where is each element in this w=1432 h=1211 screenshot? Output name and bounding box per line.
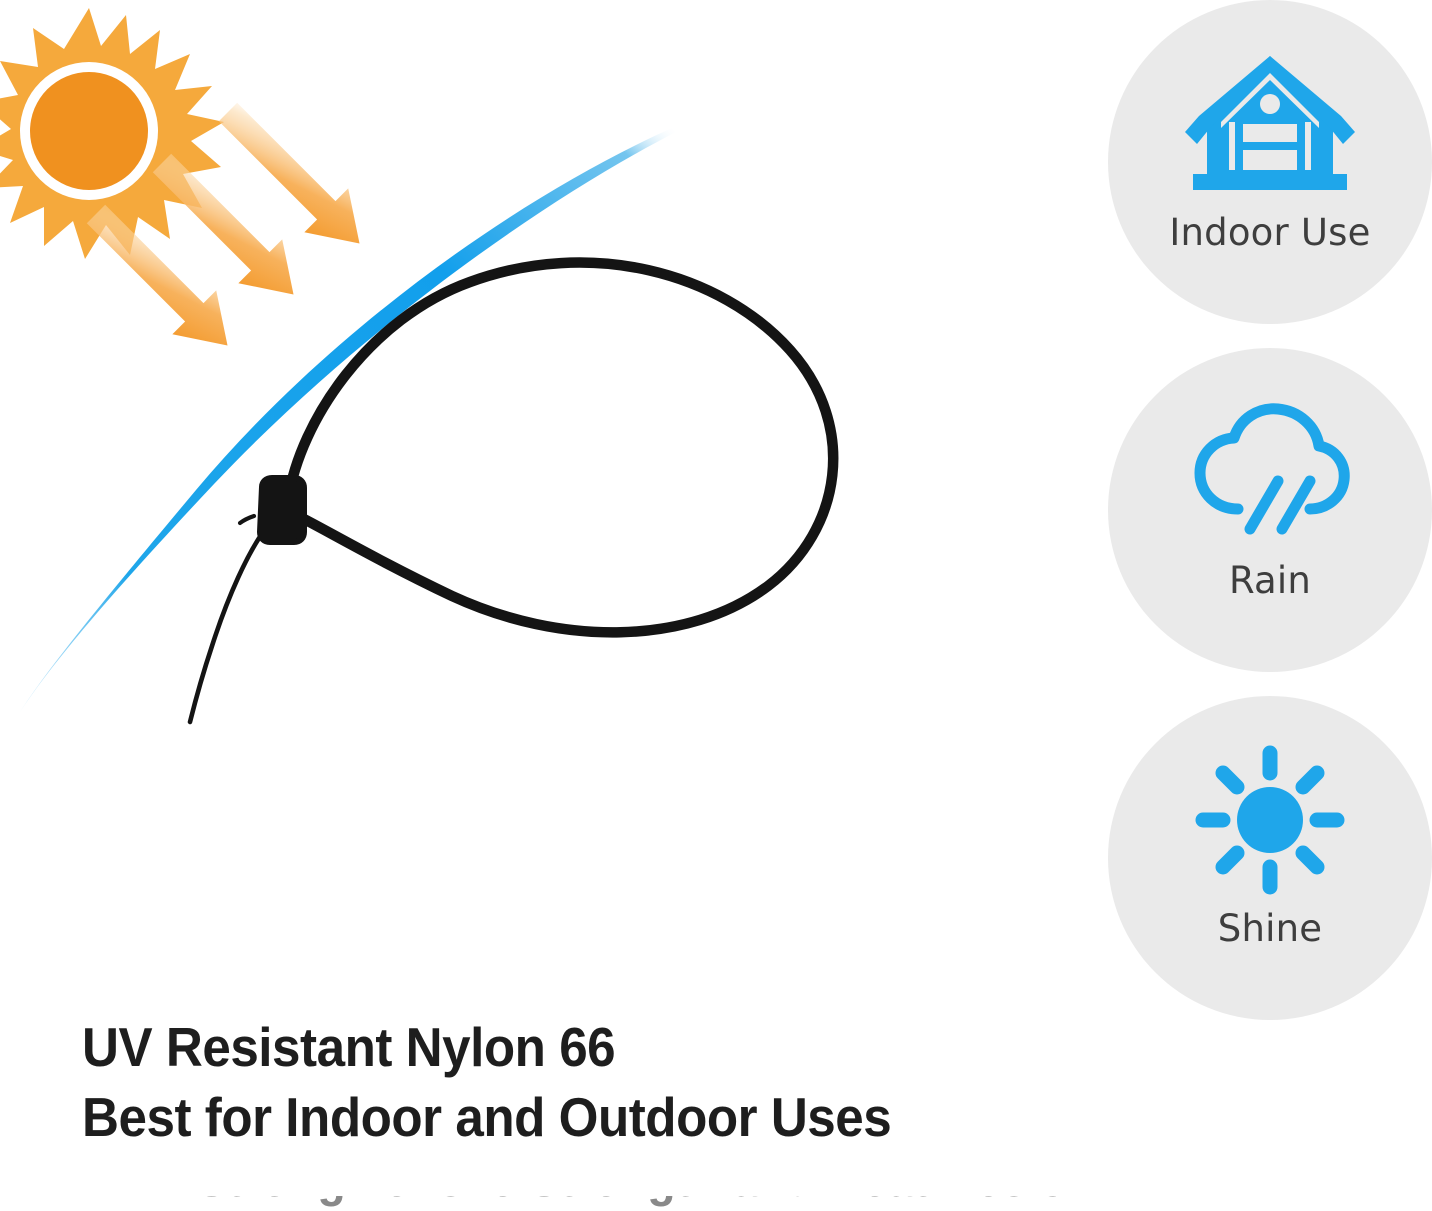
cable-tie-icon xyxy=(190,263,833,722)
feature-badge-indoor-use[interactable]: Indoor Use xyxy=(1108,0,1432,324)
headline-line-3: Strong Tensile Strength and Heat Resista… xyxy=(196,1196,996,1211)
house-icon xyxy=(1175,44,1365,204)
feature-badge-list: Indoor Use Rain xyxy=(1108,0,1432,1020)
feature-badge-shine[interactable]: Shine xyxy=(1108,696,1432,1020)
product-illustration xyxy=(0,0,1080,980)
headline-line-2: Best for Indoor and Outdoor Uses xyxy=(82,1082,1059,1152)
feature-badge-rain[interactable]: Rain xyxy=(1108,348,1432,672)
feature-badge-label: Indoor Use xyxy=(1169,214,1370,253)
rain-cloud-icon xyxy=(1175,392,1365,552)
headline-block: UV Resistant Nylon 66 Best for Indoor an… xyxy=(82,1012,1132,1152)
sun-shine-icon xyxy=(1175,740,1365,900)
feature-badge-label: Rain xyxy=(1229,562,1311,601)
feature-badge-label: Shine xyxy=(1218,910,1322,949)
headline-line-1: UV Resistant Nylon 66 xyxy=(82,1012,1059,1082)
infographic-page: Indoor Use Rain xyxy=(0,0,1432,1211)
headline-line-3-cropped: Strong Tensile Strength and Heat Resista… xyxy=(196,1196,1056,1211)
